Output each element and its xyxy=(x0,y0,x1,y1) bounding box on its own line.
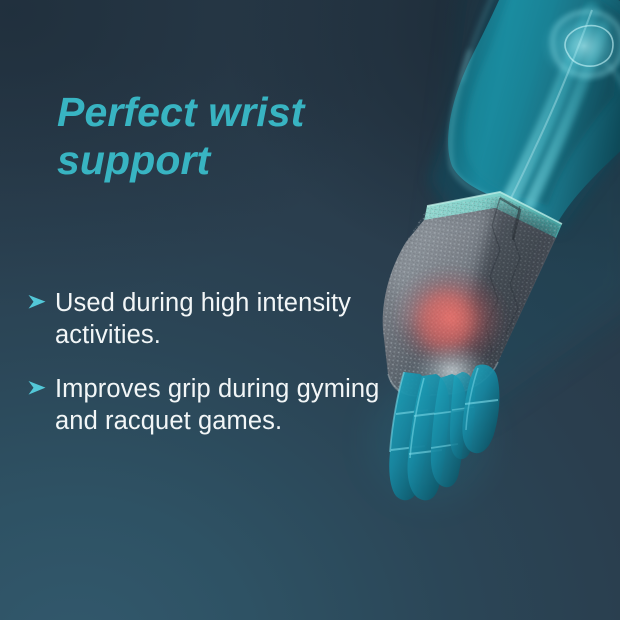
pain-glow xyxy=(392,266,508,370)
elbow-joint xyxy=(540,8,620,94)
copy-block: Perfect wrist support Used during high i… xyxy=(0,0,400,620)
thumb xyxy=(462,364,499,453)
wrist-support-sleeve xyxy=(370,185,580,410)
list-item-label: Used during high intensity activities. xyxy=(55,288,389,352)
page-title: Perfect wrist support xyxy=(57,88,387,185)
finger-middle xyxy=(407,374,449,500)
promo-slide: Perfect wrist support Used during high i… xyxy=(0,0,620,620)
forearm-xray xyxy=(430,0,620,230)
benefit-list: Used during high intensity activities. I… xyxy=(27,288,389,460)
list-item: Improves grip during gyming and racquet … xyxy=(27,374,389,438)
brace-cuff-band xyxy=(424,192,562,238)
finger-little xyxy=(450,372,475,459)
list-item-label: Improves grip during gyming and racquet … xyxy=(55,374,389,438)
finger-ring xyxy=(431,374,466,487)
palm-highlight xyxy=(412,342,492,402)
list-item: Used during high intensity activities. xyxy=(27,288,389,352)
arrowhead-bullet-icon xyxy=(27,288,49,310)
arrowhead-bullet-icon xyxy=(27,374,49,396)
